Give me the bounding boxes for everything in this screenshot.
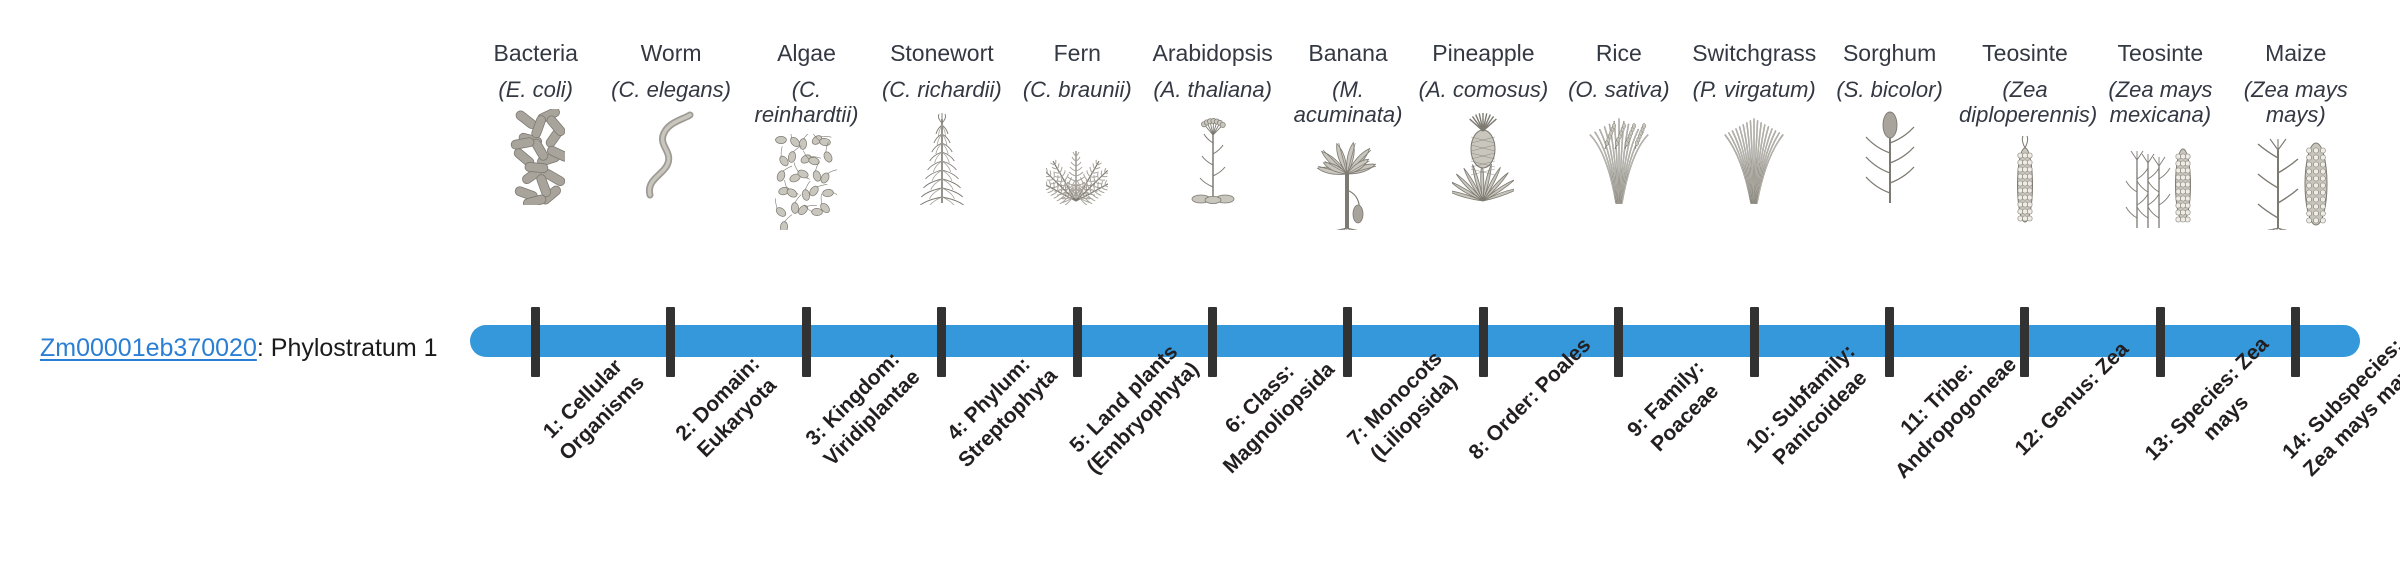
rank-label: 7: Monocots (Liliopsida): [1326, 330, 1484, 488]
rank-label: 10: Subfamily: Panicoideae: [1732, 330, 1890, 488]
rank-label: 1: Cellular Organisms: [513, 330, 671, 488]
rank-label: 12: Genus: Zea: [2003, 330, 2142, 469]
rank-label: 8: Order: Poales: [1461, 330, 1600, 469]
rank-label: 2: Domain: Eukaryota: [649, 330, 807, 488]
rank-label: 11: Tribe: Andropogoneae: [1867, 330, 2025, 488]
rank-label: 6: Class: Magnoliopsida: [1190, 330, 1348, 488]
rank-label: 14: Subspecies: Zea mays mays: [2274, 330, 2400, 488]
taxonomic-rank-labels: 1: Cellular Organisms2: Domain: Eukaryot…: [0, 0, 2400, 580]
rank-label: 5: Land plants (Embryophyta): [1055, 330, 1213, 488]
rank-label: 9: Family: Poaceae: [1597, 330, 1755, 488]
rank-label: 13: Species: Zea mays: [2138, 330, 2296, 488]
rank-label: 3: Kingdom: Viridiplantae: [784, 330, 942, 488]
rank-label: 4: Phylum: Streptophyta: [920, 330, 1078, 488]
phylostratigraphy-figure: Zm00001eb370020: Phylostratum 1 Bacteria…: [0, 0, 2400, 580]
